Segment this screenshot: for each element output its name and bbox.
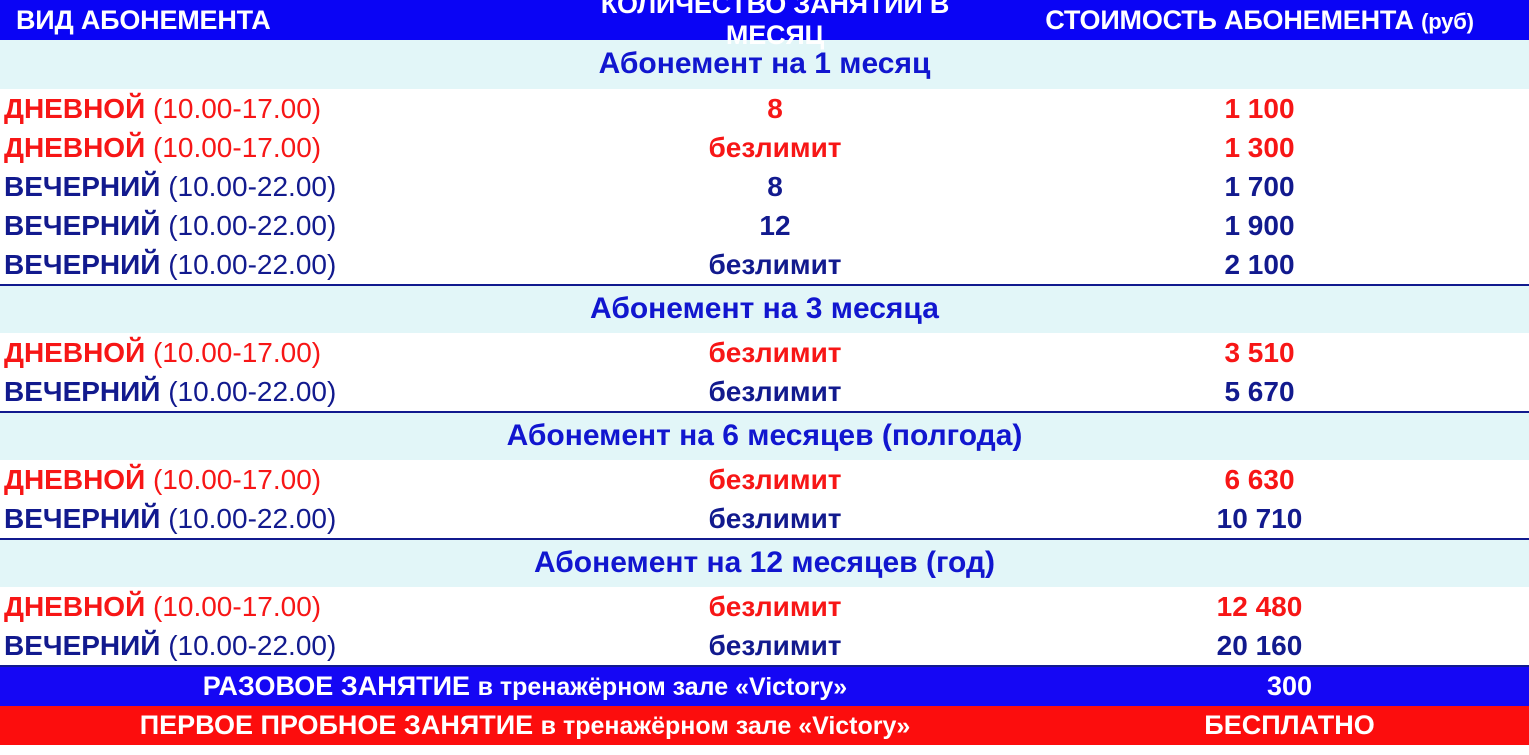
table-row: ДНЕВНОЙ (10.00-17.00)безлимит1 300 [0, 128, 1529, 167]
subscription-type-name: ДНЕВНОЙ [4, 591, 145, 622]
subscription-type-name: ВЕЧЕРНИЙ [4, 249, 160, 280]
sections-container: Абонемент на 1 месяцДНЕВНОЙ (10.00-17.00… [0, 40, 1529, 667]
subscription-type-hours: (10.00-22.00) [168, 249, 336, 280]
section-header: Абонемент на 1 месяц [0, 40, 1529, 89]
subscription-type-name: ВЕЧЕРНИЙ [4, 503, 160, 534]
cell-price: 1 300 [990, 132, 1529, 164]
cell-price: 5 670 [990, 376, 1529, 408]
cell-subscription-type: ВЕЧЕРНИЙ (10.00-22.00) [0, 630, 560, 662]
cell-price: 2 100 [990, 249, 1529, 281]
cell-price: 10 710 [990, 503, 1529, 535]
table-row: ДНЕВНОЙ (10.00-17.00)безлимит6 630 [0, 460, 1529, 499]
cell-visits-per-month: 8 [560, 171, 990, 203]
cell-visits-per-month: 8 [560, 93, 990, 125]
header-cell-price: СТОИМОСТЬ АБОНЕМЕНТА (руб) [990, 5, 1529, 36]
visits-value: 8 [767, 93, 783, 125]
subscription-type-name: ДНЕВНОЙ [4, 93, 145, 124]
subscription-type-hours: (10.00-17.00) [153, 93, 321, 124]
subscription-type-name: ДНЕВНОЙ [4, 337, 145, 368]
cell-subscription-type: ВЕЧЕРНИЙ (10.00-22.00) [0, 376, 560, 408]
visits-value: безлимит [708, 132, 841, 164]
subscription-type-hours: (10.00-17.00) [153, 337, 321, 368]
header-price-unit: (руб) [1421, 9, 1474, 34]
footer-trial-caps: ПЕРВОЕ ПРОБНОЕ ЗАНЯТИЕ [140, 710, 533, 740]
section-header: Абонемент на 12 месяцев (год) [0, 538, 1529, 587]
cell-price: 20 160 [990, 630, 1529, 662]
cell-price: 1 700 [990, 171, 1529, 203]
footer-trial-value: БЕСПЛАТНО [1050, 710, 1529, 741]
cell-subscription-type: ДНЕВНОЙ (10.00-17.00) [0, 337, 560, 369]
table-header-row: ВИД АБОНЕМЕНТА КОЛИЧЕСТВО ЗАНЯТИЙ В МЕСЯ… [0, 0, 1529, 40]
cell-visits-per-month: безлимит [560, 132, 990, 164]
subscription-type-hours: (10.00-17.00) [153, 464, 321, 495]
cell-price: 6 630 [990, 464, 1529, 496]
cell-subscription-type: ДНЕВНОЙ (10.00-17.00) [0, 93, 560, 125]
visits-value: безлимит [708, 376, 841, 408]
cell-visits-per-month: безлимит [560, 630, 990, 662]
footer-trial-rest: в тренажёрном зале «Victory» [541, 712, 911, 740]
cell-subscription-type: ВЕЧЕРНИЙ (10.00-22.00) [0, 171, 560, 203]
header-cell-type: ВИД АБОНЕМЕНТА [0, 5, 560, 36]
cell-price: 1 900 [990, 210, 1529, 242]
subscription-type-name: ВЕЧЕРНИЙ [4, 376, 160, 407]
visits-value: безлимит [708, 503, 841, 535]
price-table: ВИД АБОНЕМЕНТА КОЛИЧЕСТВО ЗАНЯТИЙ В МЕСЯ… [0, 0, 1529, 755]
cell-subscription-type: ДНЕВНОЙ (10.00-17.00) [0, 132, 560, 164]
cell-visits-per-month: 12 [560, 210, 990, 242]
footer-row-single-session: РАЗОВОЕ ЗАНЯТИЕ в тренажёрном зале «Vict… [0, 667, 1529, 706]
subscription-type-name: ДНЕВНОЙ [4, 132, 145, 163]
subscription-type-hours: (10.00-22.00) [168, 376, 336, 407]
subscription-type-name: ДНЕВНОЙ [4, 464, 145, 495]
table-row: ВЕЧЕРНИЙ (10.00-22.00)безлимит10 710 [0, 499, 1529, 538]
subscription-type-hours: (10.00-17.00) [153, 591, 321, 622]
table-row: ДНЕВНОЙ (10.00-17.00)безлимит3 510 [0, 333, 1529, 372]
cell-price: 12 480 [990, 591, 1529, 623]
section-header: Абонемент на 3 месяца [0, 284, 1529, 333]
footer-row-trial-session: ПЕРВОЕ ПРОБНОЕ ЗАНЯТИЕ в тренажёрном зал… [0, 706, 1529, 745]
visits-value: безлимит [708, 630, 841, 662]
footer-single-description: РАЗОВОЕ ЗАНЯТИЕ в тренажёрном зале «Vict… [0, 671, 1050, 702]
cell-visits-per-month: безлимит [560, 591, 990, 623]
cell-visits-per-month: безлимит [560, 464, 990, 496]
subscription-type-hours: (10.00-22.00) [168, 171, 336, 202]
visits-value: безлимит [708, 337, 841, 369]
subscription-type-name: ВЕЧЕРНИЙ [4, 210, 160, 241]
section-header: Абонемент на 6 месяцев (полгода) [0, 411, 1529, 460]
header-price-main: СТОИМОСТЬ АБОНЕМЕНТА [1045, 5, 1413, 35]
subscription-type-hours: (10.00-22.00) [168, 630, 336, 661]
footer-trial-description: ПЕРВОЕ ПРОБНОЕ ЗАНЯТИЕ в тренажёрном зал… [0, 710, 1050, 741]
cell-subscription-type: ВЕЧЕРНИЙ (10.00-22.00) [0, 249, 560, 281]
subscription-type-hours: (10.00-17.00) [153, 132, 321, 163]
subscription-type-hours: (10.00-22.00) [168, 210, 336, 241]
cell-subscription-type: ДНЕВНОЙ (10.00-17.00) [0, 464, 560, 496]
visits-value: безлимит [708, 464, 841, 496]
cell-visits-per-month: безлимит [560, 376, 990, 408]
table-row: ДНЕВНОЙ (10.00-17.00)безлимит12 480 [0, 587, 1529, 626]
visits-value: безлимит [708, 249, 841, 281]
footer-single-caps: РАЗОВОЕ ЗАНЯТИЕ [203, 671, 470, 701]
subscription-type-hours: (10.00-22.00) [168, 503, 336, 534]
subscription-type-name: ВЕЧЕРНИЙ [4, 630, 160, 661]
footer-single-rest: в тренажёрном зале «Victory» [478, 673, 848, 701]
cell-visits-per-month: безлимит [560, 249, 990, 281]
footer-single-value: 300 [1050, 671, 1529, 702]
cell-visits-per-month: безлимит [560, 503, 990, 535]
cell-subscription-type: ВЕЧЕРНИЙ (10.00-22.00) [0, 210, 560, 242]
visits-value: 8 [767, 171, 783, 203]
table-row: ВЕЧЕРНИЙ (10.00-22.00)безлимит20 160 [0, 626, 1529, 665]
cell-price: 1 100 [990, 93, 1529, 125]
table-row: ВЕЧЕРНИЙ (10.00-22.00)121 900 [0, 206, 1529, 245]
visits-value: безлимит [708, 591, 841, 623]
table-row: ВЕЧЕРНИЙ (10.00-22.00)безлимит2 100 [0, 245, 1529, 284]
table-row: ДНЕВНОЙ (10.00-17.00)81 100 [0, 89, 1529, 128]
visits-value: 12 [759, 210, 790, 242]
subscription-type-name: ВЕЧЕРНИЙ [4, 171, 160, 202]
cell-subscription-type: ДНЕВНОЙ (10.00-17.00) [0, 591, 560, 623]
header-cell-count: КОЛИЧЕСТВО ЗАНЯТИЙ В МЕСЯЦ [560, 0, 990, 51]
cell-price: 3 510 [990, 337, 1529, 369]
table-row: ВЕЧЕРНИЙ (10.00-22.00)81 700 [0, 167, 1529, 206]
cell-visits-per-month: безлимит [560, 337, 990, 369]
table-row: ВЕЧЕРНИЙ (10.00-22.00)безлимит5 670 [0, 372, 1529, 411]
cell-subscription-type: ВЕЧЕРНИЙ (10.00-22.00) [0, 503, 560, 535]
